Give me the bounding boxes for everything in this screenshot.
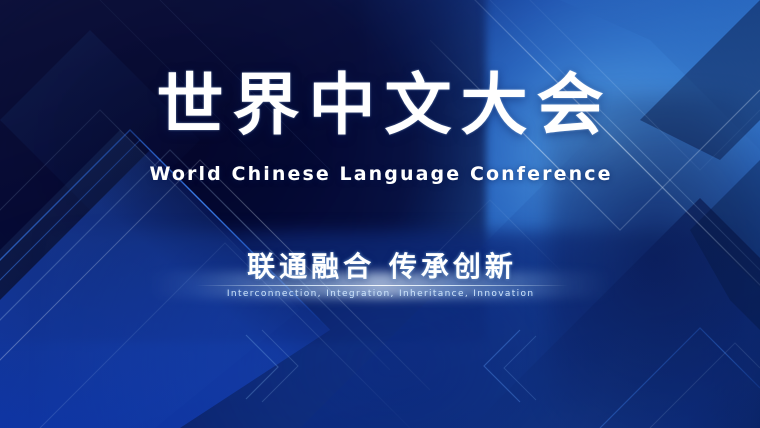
conference-title-english: World Chinese Language Conference [0, 163, 760, 185]
conference-slogan-english: Interconnection, Integration, Inheritanc… [0, 289, 760, 299]
conference-title-chinese: 世界中文大会 [0, 72, 760, 139]
banner-content: 世界中文大会 World Chinese Language Conference… [0, 0, 760, 428]
conference-banner: 世界中文大会 World Chinese Language Conference… [0, 0, 760, 428]
conference-slogan-chinese: 联通融合 传承创新 [0, 253, 760, 281]
slogan-underline-glow [196, 285, 568, 286]
